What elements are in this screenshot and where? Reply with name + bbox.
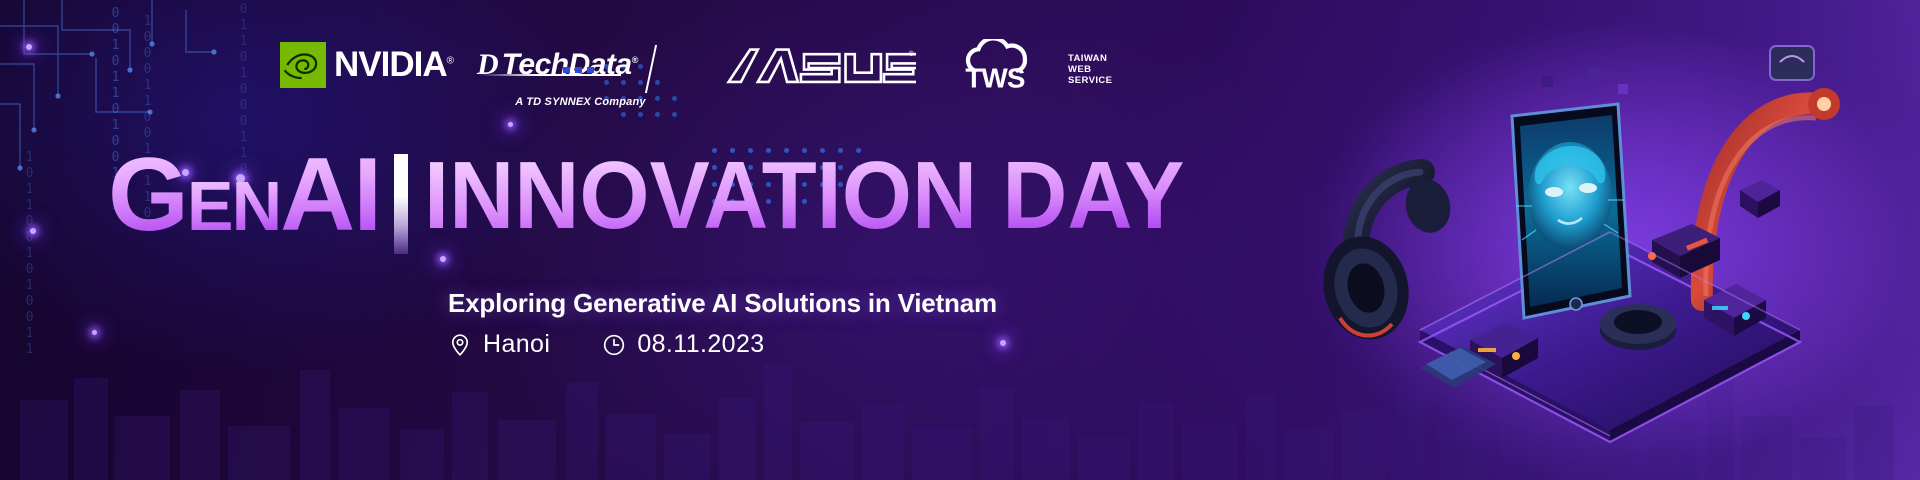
ai-tech-illustration	[1300, 0, 1920, 480]
glow-particle	[1000, 340, 1006, 346]
headline: G EN AI INNOVATION DAY	[108, 148, 1233, 254]
headline-genai: G EN AI	[108, 148, 380, 244]
techdata-name-part2: Data	[569, 48, 632, 81]
logo-nvidia[interactable]: NVIDIA®	[280, 42, 453, 88]
headline-gen-ai: AI	[280, 148, 380, 244]
tws-tagline-line1: TAIWAN	[1068, 53, 1112, 64]
techdata-tagline: A TD SYNNEX Company	[515, 96, 646, 108]
techdata-slash-decoration	[645, 45, 657, 93]
nvidia-wordmark: NVIDIA®	[334, 45, 453, 85]
nvidia-name: NVIDIA	[334, 45, 447, 84]
headline-gen-en: EN	[187, 174, 280, 238]
glow-particle	[92, 330, 97, 335]
event-banner: 0010110100101 1000110010110 011010001101…	[0, 0, 1920, 480]
techdata-underline-decoration	[479, 74, 621, 76]
asus-wordmark: ®	[724, 45, 916, 85]
nvidia-registered: ®	[447, 55, 453, 66]
logo-techdata[interactable]: D TechData® A TD SYNNEX Company	[477, 48, 652, 82]
logo-tws[interactable]: TWS TAIWAN WEB SERVICE	[958, 39, 1112, 91]
techdata-registered: ®	[632, 55, 638, 65]
headline-divider	[394, 154, 408, 254]
event-date: 08.11.2023	[602, 330, 764, 359]
tws-tagline-line2: WEB	[1068, 64, 1112, 75]
tws-tagline: TAIWAN WEB SERVICE	[1068, 53, 1112, 91]
event-location-label: Hanoi	[483, 330, 550, 359]
headline-gen-g: G	[108, 148, 187, 244]
headline-innovation-day: INNOVATION DAY	[424, 148, 1184, 244]
svg-text:TWS: TWS	[965, 62, 1024, 91]
partner-logos-row: NVIDIA® D TechData® A TD SYNNEX Company	[280, 35, 1112, 95]
event-location: Hanoi	[448, 330, 550, 359]
tws-cloud-icon: TWS	[958, 39, 1062, 91]
event-date-label: 08.11.2023	[637, 330, 764, 359]
nvidia-eye-icon	[280, 42, 326, 88]
techdata-monogram-icon: D	[477, 48, 499, 82]
clock-icon	[602, 333, 626, 357]
map-pin-icon	[448, 333, 472, 357]
techdata-name-part1: Tech	[502, 48, 569, 81]
tws-tagline-line3: SERVICE	[1068, 75, 1112, 86]
glow-particle	[440, 256, 446, 262]
svg-text:®: ®	[908, 50, 913, 58]
techdata-squares-decoration	[563, 67, 594, 73]
event-meta-row: Hanoi 08.11.2023	[448, 330, 765, 359]
glow-particle	[508, 122, 513, 127]
subtitle: Exploring Generative AI Solutions in Vie…	[448, 288, 997, 319]
glow-particle	[26, 44, 32, 50]
logo-asus[interactable]: ®	[724, 45, 916, 85]
glow-particle	[30, 228, 36, 234]
